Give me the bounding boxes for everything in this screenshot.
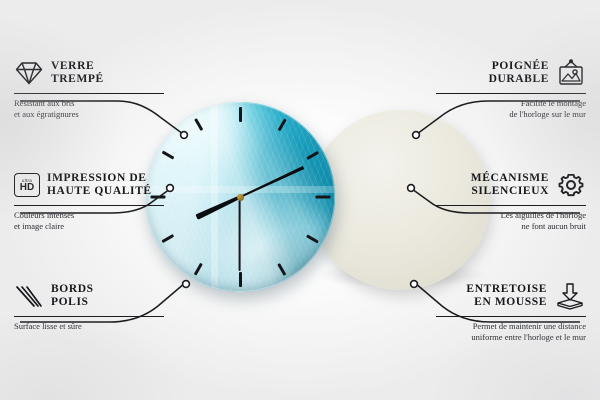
feature-desc-line2: et image claire	[14, 221, 164, 232]
feature-desc-line1: Couleurs intenses	[14, 210, 164, 221]
feature-title-line2: HAUTE QUALITÉ	[47, 185, 152, 198]
feature-title-line2: SILENCIEUX	[471, 185, 549, 198]
ultra-hd-icon: ultra HD	[14, 173, 40, 197]
feature-desc-line1: Facilite le montage	[436, 98, 586, 109]
feature-title-line1: VERRE	[51, 60, 104, 73]
feature-desc-line1: Surface lisse et sûre	[14, 321, 164, 332]
feature-desc-line2: ne font aucun bruit	[436, 221, 586, 232]
feature-desc-line1: Permet de maintenir une distance	[436, 321, 586, 332]
feature-title: IMPRESSION DE HAUTE QUALITÉ	[47, 172, 152, 198]
connector-node-verre	[181, 132, 188, 139]
picture-frame-hanger-icon	[556, 59, 586, 87]
feature-title: ENTRETOISE EN MOUSSE	[466, 283, 547, 309]
feature-title-line2: POLIS	[51, 296, 94, 309]
feature-title-line1: IMPRESSION DE	[47, 172, 152, 185]
feature-header: VERRE TREMPÉ	[14, 56, 164, 90]
feature-description: Les aiguilles de l'horloge ne font aucun…	[436, 210, 586, 231]
feature-title: VERRE TREMPÉ	[51, 60, 104, 86]
feature-desc-line1: Les aiguilles de l'horloge	[436, 210, 586, 221]
feature-header: ENTRETOISE EN MOUSSE	[436, 279, 586, 313]
ultra-hd-large-text: HD	[20, 183, 34, 193]
feature-title: BORDS POLIS	[51, 283, 94, 309]
feature-poignee-durable[interactable]: POIGNÉE DURABLE Facilite le montage de	[436, 56, 586, 119]
foam-spacer-arrow-icon	[554, 282, 586, 310]
feature-title: MÉCANISME SILENCIEUX	[471, 172, 549, 198]
connector-node-mecanisme	[408, 185, 415, 192]
feature-description: Facilite le montage de l'horloge sur le …	[436, 98, 586, 119]
feature-header: POIGNÉE DURABLE	[436, 56, 586, 90]
feature-desc-line2: et aux égratignures	[14, 109, 164, 120]
gear-icon	[556, 171, 586, 199]
feature-desc-line1: Résistant aux bris	[14, 98, 164, 109]
connector-node-poignee	[413, 132, 420, 139]
feature-desc-line2: de l'horloge sur le mur	[436, 109, 586, 120]
feature-description: Couleurs intenses et image claire	[14, 210, 164, 231]
polished-edges-icon	[14, 283, 44, 309]
feature-title: POIGNÉE DURABLE	[489, 60, 549, 86]
feature-impression-haute-qualite[interactable]: ultra HD IMPRESSION DE HAUTE QUALITÉ Cou…	[14, 168, 164, 231]
diamond-icon	[14, 60, 44, 86]
feature-header: ultra HD IMPRESSION DE HAUTE QUALITÉ	[14, 168, 164, 202]
feature-title-line1: MÉCANISME	[471, 172, 549, 185]
feature-rule	[436, 205, 586, 206]
feature-verre-trempe[interactable]: VERRE TREMPÉ Résistant aux bris et aux é…	[14, 56, 164, 119]
feature-description: Résistant aux bris et aux égratignures	[14, 98, 164, 119]
feature-bords-polis[interactable]: BORDS POLIS Surface lisse et sûre	[14, 279, 164, 332]
connector-node-impression	[167, 185, 174, 192]
feature-title-line1: ENTRETOISE	[466, 283, 547, 296]
feature-mecanisme-silencieux[interactable]: MÉCANISME SILENCIEUX Les aiguilles de l'…	[436, 168, 586, 231]
feature-title-line2: DURABLE	[489, 73, 549, 86]
infographic-canvas: AA	[0, 0, 600, 400]
feature-rule	[14, 93, 164, 94]
feature-rule	[14, 205, 164, 206]
feature-rule	[436, 316, 586, 317]
connector-node-entretoise	[411, 281, 418, 288]
feature-title-line1: BORDS	[51, 283, 94, 296]
feature-header: BORDS POLIS	[14, 279, 164, 313]
feature-rule	[436, 93, 586, 94]
feature-entretoise-en-mousse[interactable]: ENTRETOISE EN MOUSSE Permet de maintenir…	[436, 279, 586, 342]
feature-desc-line2: uniforme entre l'horloge et le mur	[436, 332, 586, 343]
feature-title-line2: TREMPÉ	[51, 73, 104, 86]
feature-header: MÉCANISME SILENCIEUX	[436, 168, 586, 202]
feature-description: Permet de maintenir une distance uniform…	[436, 321, 586, 342]
feature-title-line2: EN MOUSSE	[466, 296, 547, 309]
feature-rule	[14, 316, 164, 317]
connector-node-bords	[183, 281, 190, 288]
feature-description: Surface lisse et sûre	[14, 321, 164, 332]
feature-title-line1: POIGNÉE	[489, 60, 549, 73]
